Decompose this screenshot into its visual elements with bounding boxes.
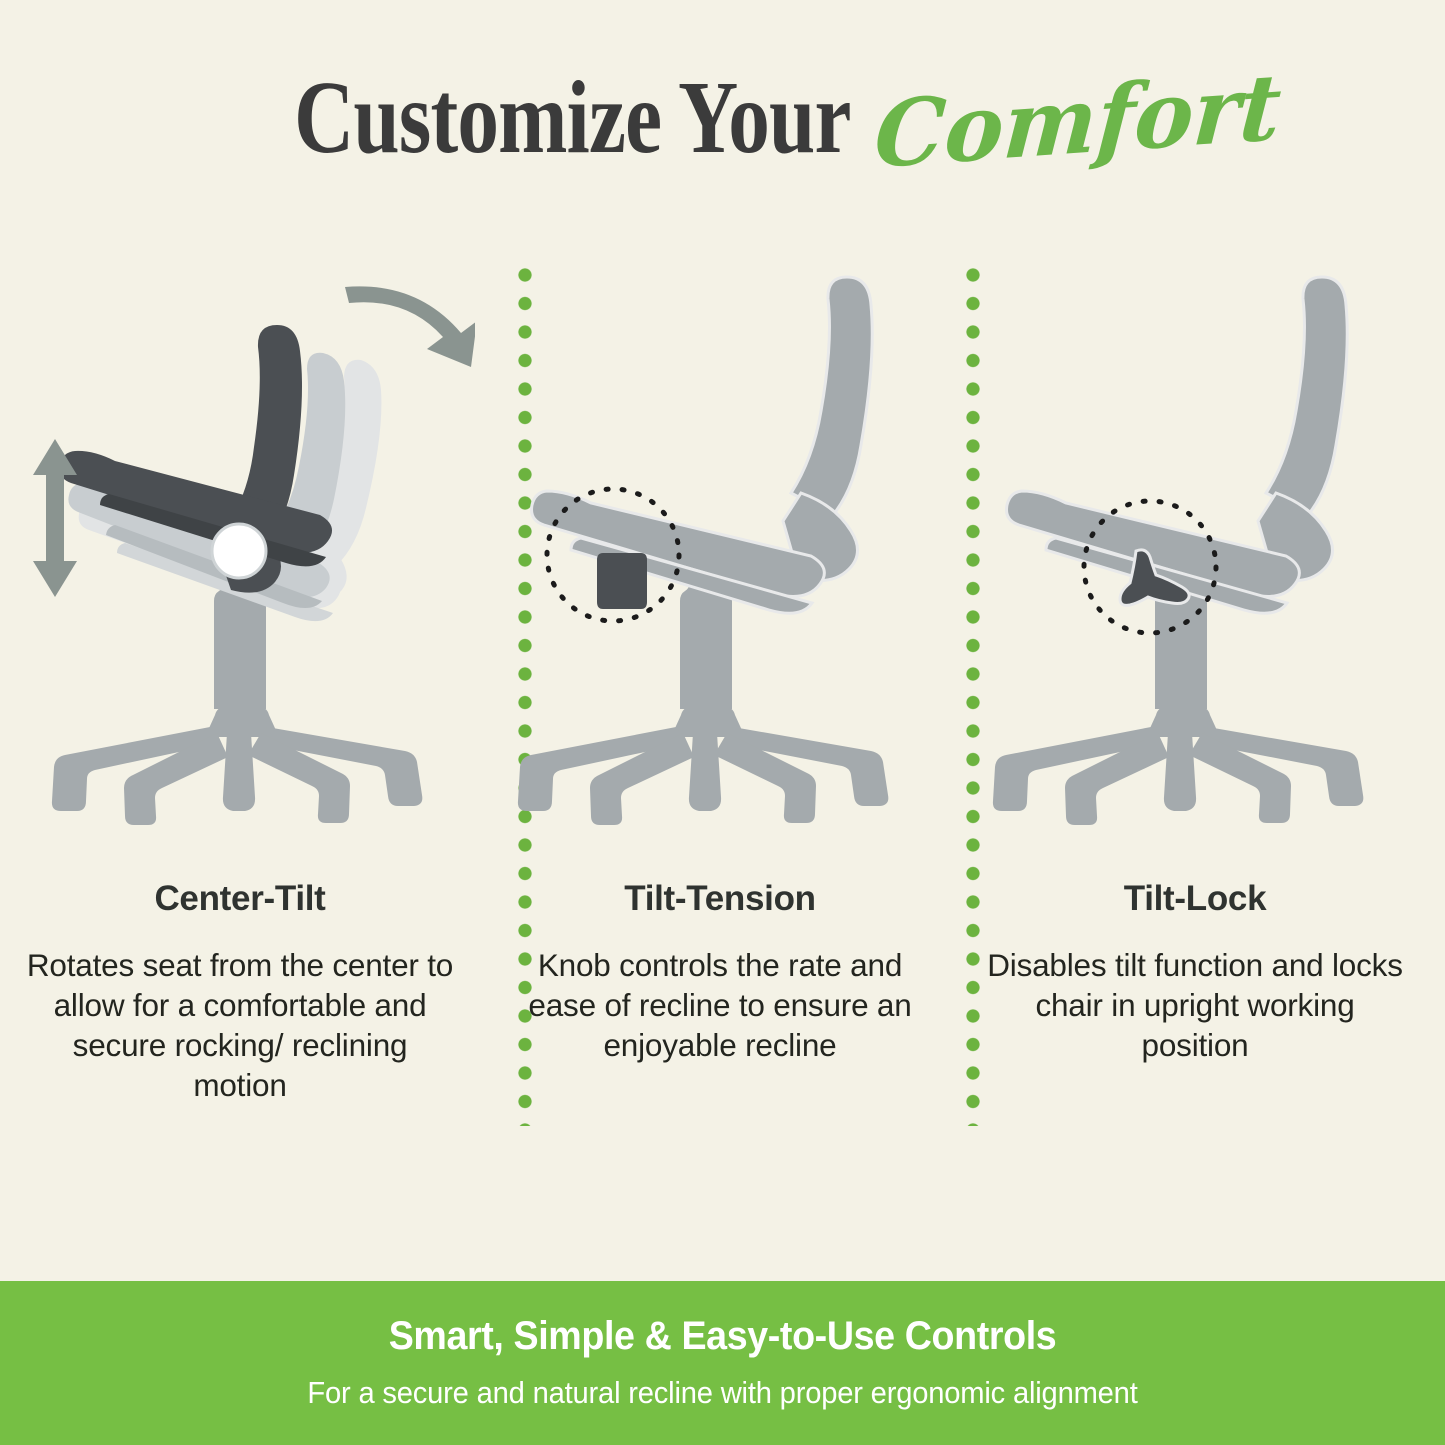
feature-body: Rotates seat from the center to allow fo… [25,945,455,1105]
page-title-primary: Customize Your [294,58,851,177]
feature-title: Tilt-Tension [505,880,935,919]
chair-illustration-tilt-lock [960,255,1430,855]
caption-tilt-tension: Tilt-Tension Knob controls the rate and … [505,880,935,1065]
feature-title: Tilt-Lock [980,880,1410,919]
feature-body: Knob controls the rate and ease of recli… [505,945,935,1065]
rotate-arrow-icon [345,286,475,367]
pivot-point-icon [212,524,266,578]
chair-body-group [532,277,873,613]
chair-base-group [518,555,888,825]
chair-illustration-tilt-tension [485,255,955,855]
caption-center-tilt: Center-Tilt Rotates seat from the center… [25,880,455,1105]
feature-column-center-tilt: Center-Tilt Rotates seat from the center… [5,255,475,1255]
chair-body-group [1007,277,1348,613]
feature-column-tilt-tension: Tilt-Tension Knob controls the rate and … [485,255,955,1255]
tension-knob-icon [597,553,647,609]
page-title-script: Comfort [872,53,1285,189]
feature-column-tilt-lock: Tilt-Lock Disables tilt function and loc… [960,255,1430,1255]
chair-illustration-center-tilt [5,255,475,855]
banner-title: Smart, Simple & Easy-to-Use Controls [43,1281,1401,1359]
feature-title: Center-Tilt [25,880,455,919]
infographic-root: Customize YourComfort [0,0,1445,1445]
banner-subtitle: For a secure and natural recline with pr… [43,1359,1401,1411]
feature-body: Disables tilt function and locks chair i… [980,945,1410,1065]
feature-columns: Center-Tilt Rotates seat from the center… [0,255,1445,1255]
page-title: Customize YourComfort [0,58,1445,177]
footer-banner: Smart, Simple & Easy-to-Use Controls For… [0,1281,1445,1445]
caption-tilt-lock: Tilt-Lock Disables tilt function and loc… [980,880,1410,1065]
